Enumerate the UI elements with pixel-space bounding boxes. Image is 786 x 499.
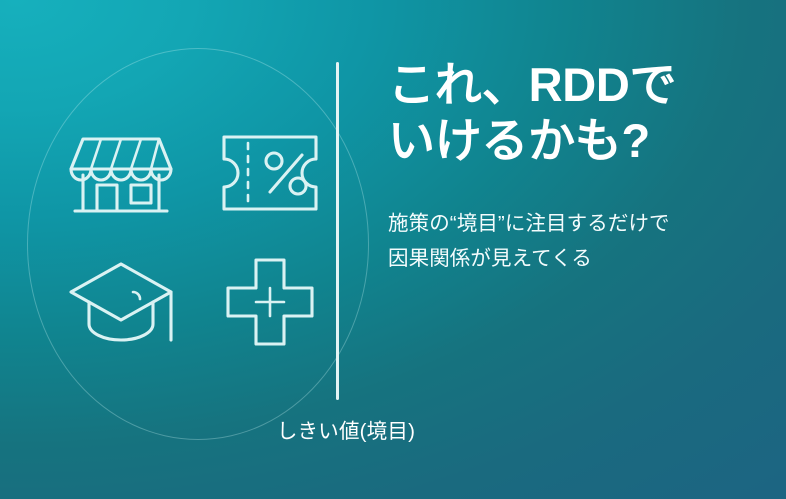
coupon-percent-icon <box>218 129 322 217</box>
headline-line-2: いけるかも? <box>388 113 770 169</box>
copy-block: これ、RDDで いけるかも? 施策の“境目”に注目するだけで 因果関係が見えてく… <box>388 57 770 276</box>
page-title: これ、RDDで いけるかも? <box>388 57 770 169</box>
medical-cross-icon <box>222 254 318 350</box>
icon-cell-coupon <box>210 118 330 228</box>
storefront-icon <box>67 123 175 223</box>
graduation-cap-icon <box>67 256 175 348</box>
threshold-caption: しきい値(境目) <box>186 414 506 444</box>
slide-canvas: しきい値(境目) これ、RDDで いけるかも? 施策の“境目”に注目するだけで … <box>0 0 786 499</box>
icon-cell-graduation <box>61 247 181 357</box>
subtitle-line-1: 施策の“境目”に注目するだけで <box>388 206 770 241</box>
threshold-divider-line <box>336 62 339 400</box>
subtitle: 施策の“境目”に注目するだけで 因果関係が見えてくる <box>388 169 770 277</box>
headline-line-1: これ、RDDで <box>388 57 770 113</box>
subtitle-line-2: 因果関係が見えてくる <box>388 241 770 276</box>
icon-grid <box>55 115 335 360</box>
icon-cell-medical-cross <box>210 247 330 357</box>
icon-cell-storefront <box>61 118 181 228</box>
